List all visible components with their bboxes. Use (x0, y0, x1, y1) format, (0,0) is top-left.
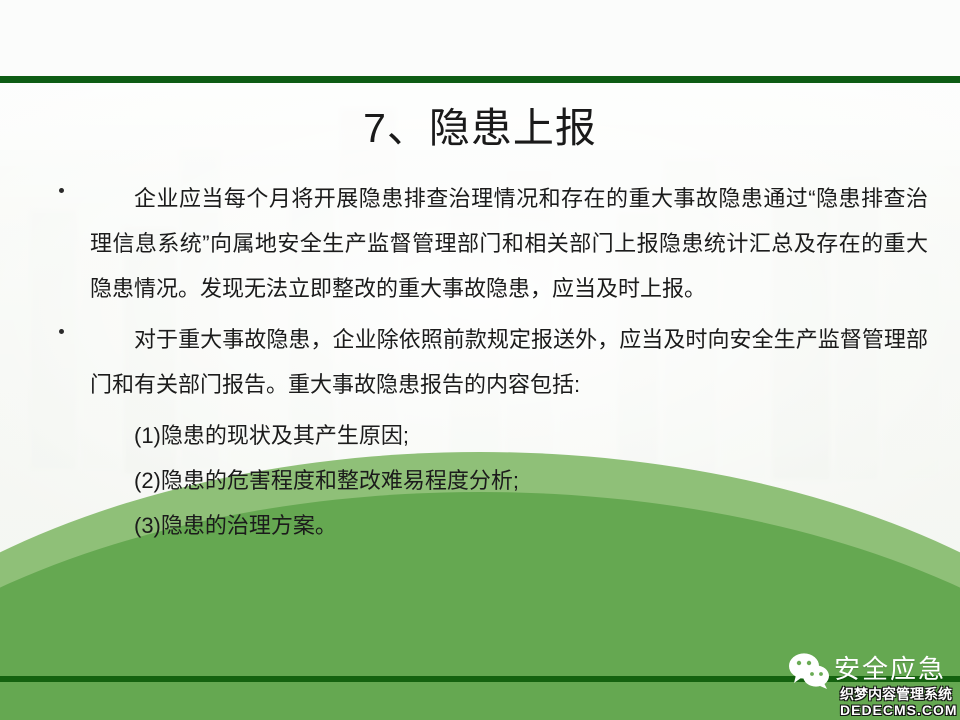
bullet-dot-icon (59, 188, 64, 193)
header-band (0, 0, 960, 76)
header-green-rule (0, 76, 960, 83)
bullet-item: 企业应当每个月将开展隐患排查治理情况和存在的重大事故隐患通过“隐患排查治理信息系… (48, 176, 928, 311)
numbered-list-item: (3)隐患的治理方案。 (134, 503, 928, 548)
bullet-paragraph: 企业应当每个月将开展隐患排查治理情况和存在的重大事故隐患通过“隐患排查治理信息系… (90, 176, 928, 311)
footer-logo-block: 安全应急 织梦内容管理系统 DEDECMS.COM (788, 648, 960, 720)
watermark-chinese: 织梦内容管理系统 (840, 684, 952, 704)
bullet-item: 对于重大事故隐患，企业除依照前款规定报送外，应当及时向安全生产监督管理部门和有关… (48, 317, 928, 407)
brand-name: 安全应急 (834, 653, 946, 685)
slide-title: 7、隐患上报 (0, 101, 960, 155)
wechat-icon (788, 652, 832, 690)
watermark-domain: DEDECMS.COM (840, 702, 958, 718)
numbered-list-item: (1)隐患的现状及其产生原因; (134, 413, 928, 458)
bullet-dot-icon (59, 329, 64, 334)
slide-body: 企业应当每个月将开展隐患排查治理情况和存在的重大事故隐患通过“隐患排查治理信息系… (48, 176, 928, 548)
numbered-list: (1)隐患的现状及其产生原因; (2)隐患的危害程度和整改难易程度分析; (3)… (48, 413, 928, 548)
bullet-paragraph: 对于重大事故隐患，企业除依照前款规定报送外，应当及时向安全生产监督管理部门和有关… (90, 317, 928, 407)
presentation-slide: 7、隐患上报 企业应当每个月将开展隐患排查治理情况和存在的重大事故隐患通过“隐患… (0, 0, 960, 720)
numbered-list-item: (2)隐患的危害程度和整改难易程度分析; (134, 458, 928, 503)
